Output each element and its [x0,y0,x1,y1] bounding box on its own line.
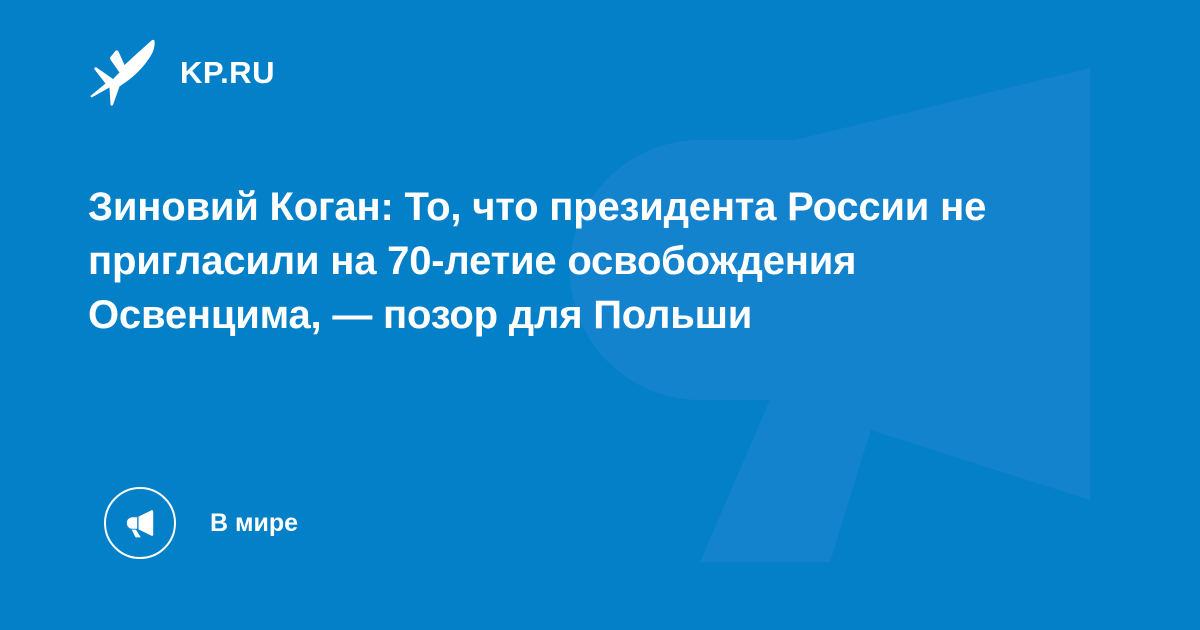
rubric[interactable]: В мире [104,487,298,559]
rubric-badge [104,487,176,559]
news-share-card: KP.RU Зиновий Коган: То, что президента … [0,0,1200,630]
megaphone-icon [121,504,159,542]
page-title: Зиновий Коган: То, что президента России… [88,180,988,342]
swallow-bird-icon [88,37,158,107]
brand-logo[interactable]: KP.RU [88,36,275,108]
brand-name-text: KP.RU [180,57,275,88]
rubric-label: В мире [210,511,298,536]
